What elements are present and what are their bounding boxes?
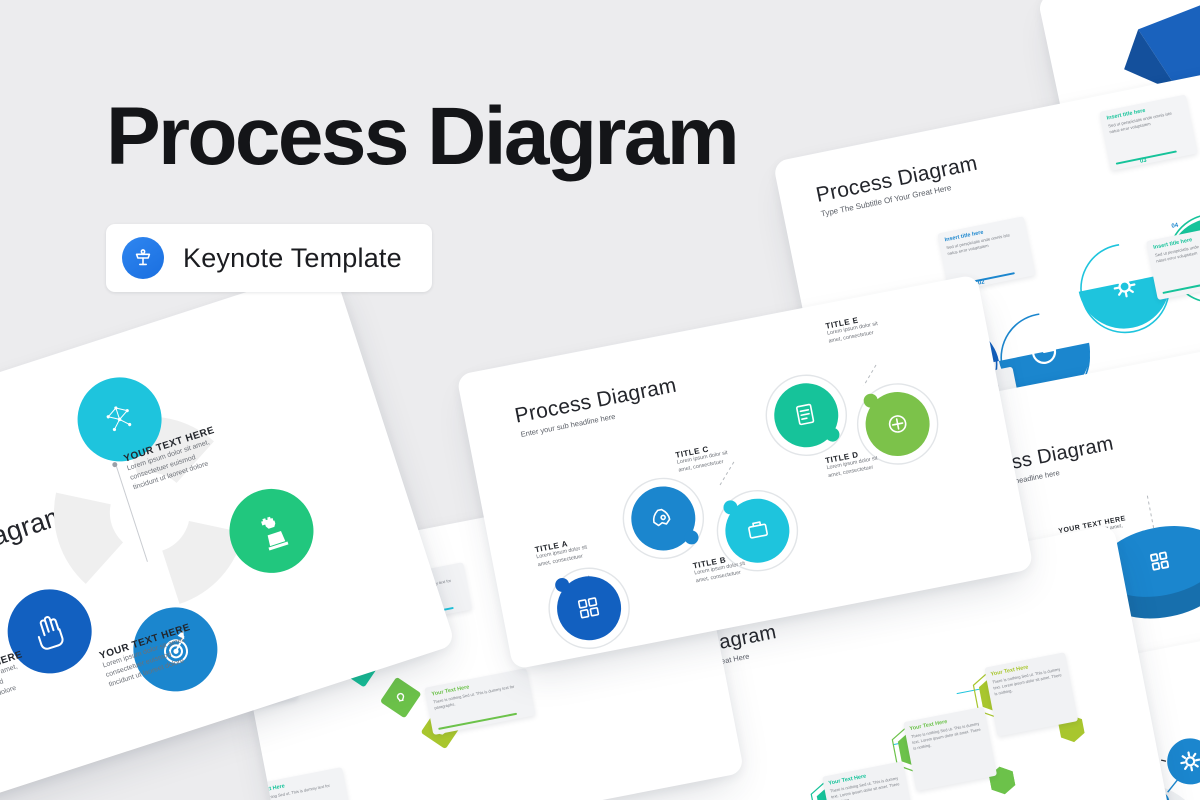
- wave-item-card-3[interactable]: Insert title here Sed ut perspiciatis un…: [1099, 94, 1197, 170]
- page-title: Process Diagram: [106, 96, 737, 178]
- keynote-podium-icon: [122, 237, 164, 279]
- hero-block: Process Diagram Keynote Template: [106, 96, 737, 292]
- keynote-template-label: Keynote Template: [183, 243, 402, 274]
- wave-accent-bar-4: [1163, 280, 1200, 294]
- keynote-template-badge[interactable]: Keynote Template: [106, 224, 432, 292]
- poster-canvas: YOUR TEXT HERE Lorem ipsum dolor Process…: [0, 0, 1200, 800]
- wave-item-number-3: 03: [1139, 158, 1147, 165]
